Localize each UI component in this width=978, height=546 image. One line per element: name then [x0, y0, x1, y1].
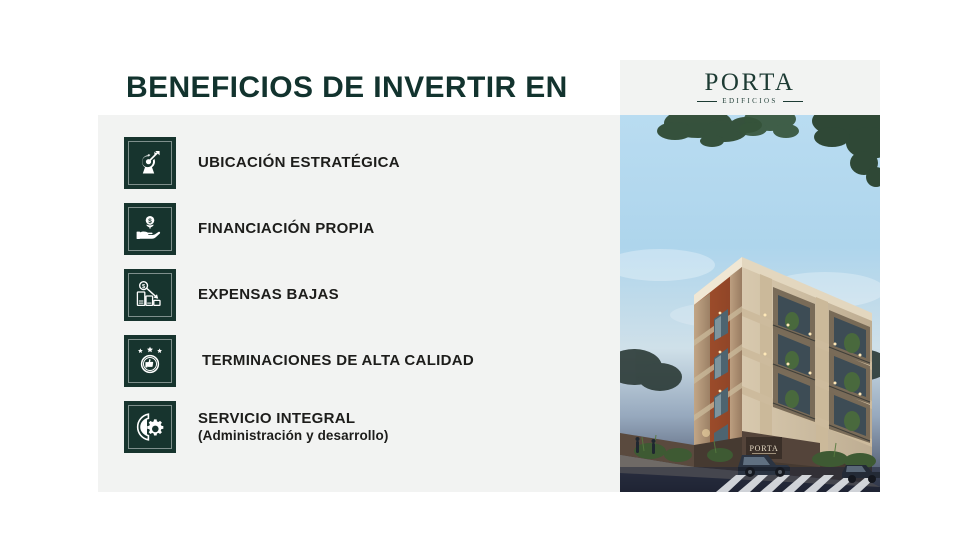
brand-name: PORTA — [705, 70, 796, 95]
brand-logo: PORTA EDIFICIOS — [620, 60, 880, 115]
decreasing-chart-coin-icon: $ — [124, 269, 176, 321]
brand-and-render-panel: PORTA EDIFICIOS — [620, 60, 880, 492]
list-item: UBICACIÓN ESTRATÉGICA — [124, 137, 620, 189]
brand-tagline: EDIFICIOS — [722, 98, 777, 105]
list-item-text: FINANCIACIÓN PROPIA — [198, 220, 375, 237]
logo-rule-right — [783, 101, 803, 102]
list-item-label: UBICACIÓN ESTRATÉGICA — [198, 154, 400, 171]
list-item-text: TERMINACIONES DE ALTA CALIDAD — [202, 352, 474, 369]
thumbs-up-stars-icon — [124, 335, 176, 387]
slide-root: BENEFICIOS DE INVERTIR EN — [98, 60, 880, 492]
benefits-list: UBICACIÓN ESTRATÉGICA $ — [98, 115, 620, 453]
list-item: SERVICIO INTEGRAL (Administración y desa… — [124, 401, 620, 453]
benefits-panel: BENEFICIOS DE INVERTIR EN — [98, 60, 620, 492]
list-item: $ EXPENSAS BAJAS — [124, 269, 620, 321]
list-item-text: SERVICIO INTEGRAL (Administración y desa… — [198, 410, 388, 444]
hand-money-plant-icon: $ — [124, 203, 176, 255]
list-item-label: FINANCIACIÓN PROPIA — [198, 220, 375, 237]
page-title: BENEFICIOS DE INVERTIR EN — [126, 71, 568, 105]
list-item-label: SERVICIO INTEGRAL — [198, 410, 388, 427]
svg-text:$: $ — [148, 218, 152, 225]
list-item: TERMINACIONES DE ALTA CALIDAD — [124, 335, 620, 387]
building-render-image: PORTA — [620, 115, 880, 492]
svg-text:PORTA: PORTA — [749, 444, 778, 453]
location-target-icon — [124, 137, 176, 189]
list-item-label: EXPENSAS BAJAS — [198, 286, 339, 303]
logo-rule-left — [697, 101, 717, 102]
brand-tagline-wrap: EDIFICIOS — [697, 98, 802, 105]
title-band: BENEFICIOS DE INVERTIR EN — [98, 60, 620, 115]
list-item-text: UBICACIÓN ESTRATÉGICA — [198, 154, 400, 171]
gear-service-icon — [124, 401, 176, 453]
list-item-label: TERMINACIONES DE ALTA CALIDAD — [202, 352, 474, 369]
list-item-sublabel: (Administración y desarrollo) — [198, 428, 388, 444]
list-item: $ FINANCIACIÓN PROPIA — [124, 203, 620, 255]
list-item-text: EXPENSAS BAJAS — [198, 286, 339, 303]
